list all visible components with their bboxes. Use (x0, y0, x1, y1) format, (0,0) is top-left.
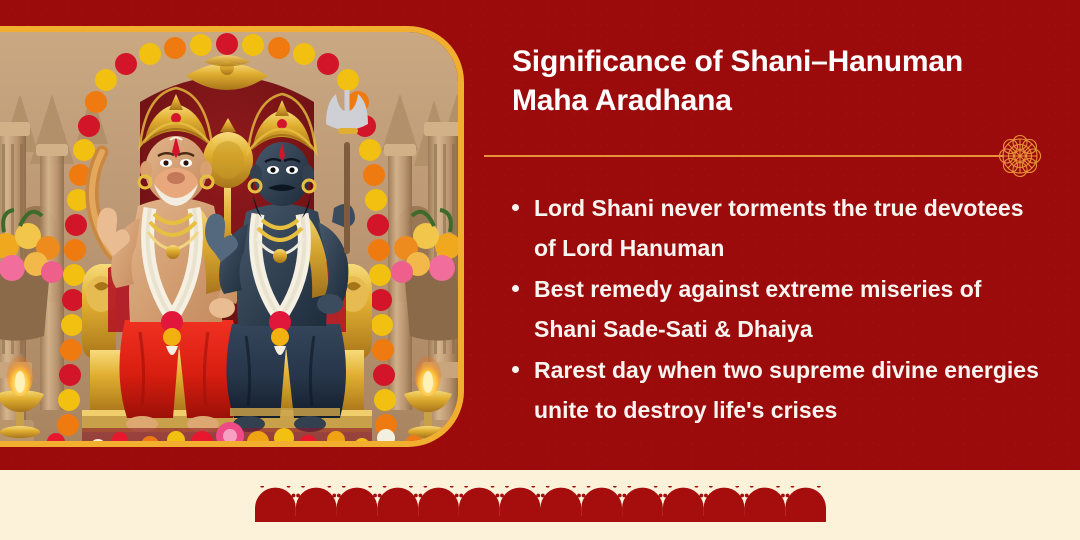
gold-divider-line (484, 155, 1004, 157)
scallop-dots (255, 486, 826, 497)
significance-bullet-list: Lord Shani never torments the true devot… (508, 188, 1048, 431)
deity-illustration (0, 32, 464, 447)
shani-hanuman-banner: Significance of Shani–Hanuman Maha Aradh… (0, 0, 1080, 540)
list-item-text: Lord Shani never torments the true devot… (534, 195, 1024, 261)
list-item: Lord Shani never torments the true devot… (508, 188, 1048, 268)
list-item-text: Rarest day when two supreme divine energ… (534, 357, 1039, 423)
mandala-ornament-icon (992, 128, 1048, 184)
list-item: Rarest day when two supreme divine energ… (508, 350, 1048, 430)
divider-row (484, 138, 1060, 174)
deity-artwork-panel (0, 26, 464, 447)
scallop-arches (255, 488, 826, 519)
list-item: Best remedy against extreme miseries of … (508, 269, 1048, 349)
bullet-dot-icon (512, 204, 519, 211)
bullet-dot-icon (512, 285, 519, 292)
headline-block: Significance of Shani–Hanuman Maha Aradh… (512, 42, 1036, 120)
scallop-ornament-strip (255, 486, 826, 522)
bullet-dot-icon (512, 366, 519, 373)
page-title: Significance of Shani–Hanuman Maha Aradh… (512, 42, 1036, 120)
list-item-text: Best remedy against extreme miseries of … (534, 276, 981, 342)
